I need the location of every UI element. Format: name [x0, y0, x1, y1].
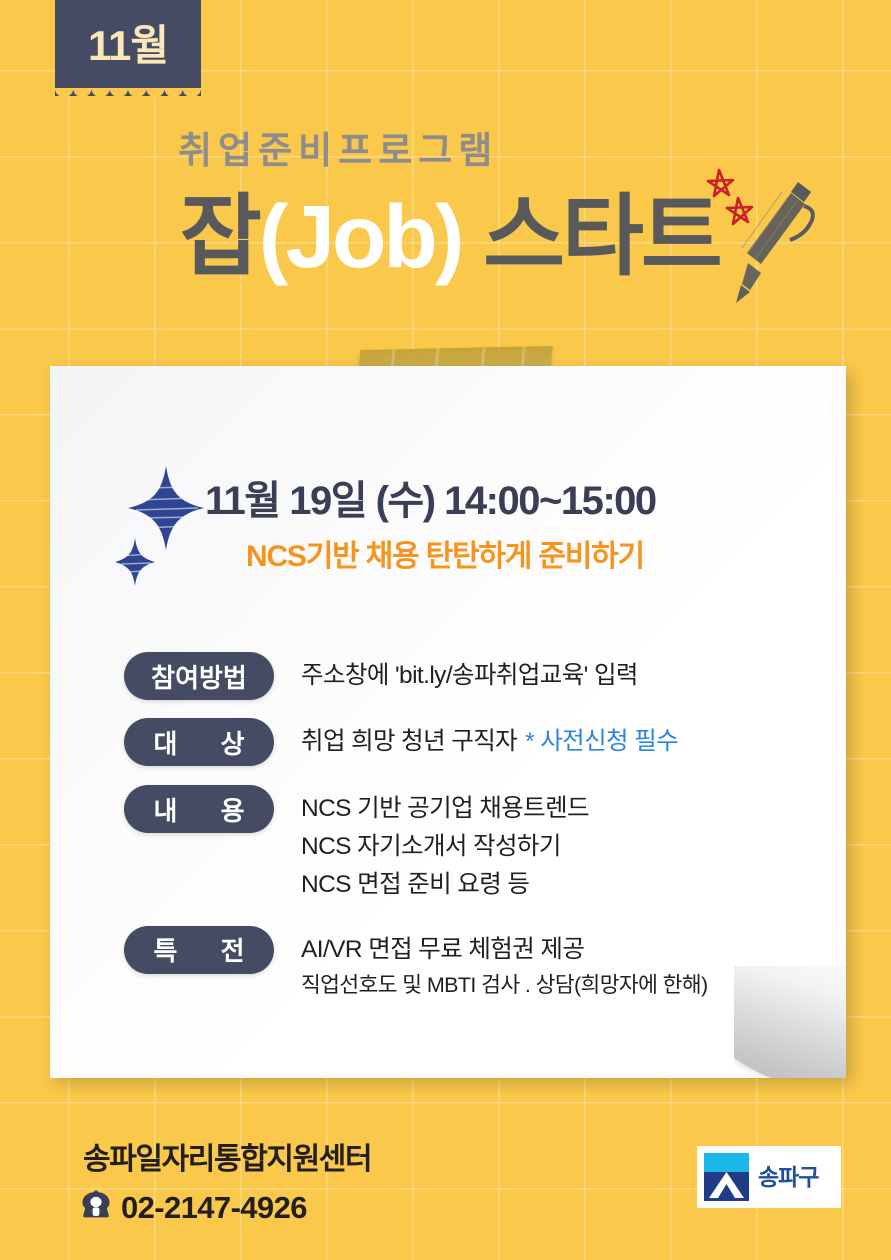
- poster-pretitle: 취업준비프로그램: [178, 132, 498, 169]
- info-row-content: 내 용 NCS 기반 공기업 채용트렌드 NCS 자기소개서 작성하기 NCS …: [124, 785, 824, 904]
- info-row-line: NCS 면접 준비 요령 등: [301, 866, 589, 904]
- info-row-line: NCS 기반 공기업 채용트렌드: [301, 790, 589, 828]
- info-row-label: 대 상: [124, 718, 274, 766]
- info-row-body: 주소창에 'bit.ly/송파취업교육' 입력: [301, 652, 638, 695]
- month-tag-scallop-edge: [55, 88, 201, 104]
- info-row-line: 직업선호도 및 MBTI 검사 . 상담(희망자에 한해): [301, 969, 708, 1002]
- info-row-participation: 참여방법 주소창에 'bit.ly/송파취업교육' 입력: [124, 652, 824, 700]
- info-row-text: 취업 희망 청년 구직자: [301, 728, 517, 755]
- songpa-mountain-logo-icon: [704, 1153, 749, 1201]
- info-rows: 참여방법 주소창에 'bit.ly/송파취업교육' 입력 대 상 취업 희망 청…: [124, 652, 824, 1020]
- info-row-body: NCS 기반 공기업 채용트렌드 NCS 자기소개서 작성하기 NCS 면접 준…: [301, 785, 589, 904]
- info-row-note: * 사전신청 필수: [525, 728, 678, 755]
- info-row-line: 취업 희망 청년 구직자* 사전신청 필수: [301, 723, 678, 761]
- info-row-target: 대 상 취업 희망 청년 구직자* 사전신청 필수: [124, 718, 824, 766]
- info-row-line: NCS 자기소개서 작성하기: [301, 828, 589, 866]
- info-row-label: 특 전: [124, 926, 274, 974]
- songpa-gu-logo-text: 송파구: [758, 1166, 818, 1189]
- info-row-body: AI/VR 면접 무료 체험권 제공 직업선호도 및 MBTI 검사 . 상담(…: [301, 926, 708, 1002]
- phone-number: 02-2147-4926: [121, 1192, 307, 1223]
- info-row-benefits: 특 전 AI/VR 면접 무료 체험권 제공 직업선호도 및 MBTI 검사 .…: [124, 926, 824, 1002]
- telephone-icon: [80, 1190, 112, 1225]
- title-part-korean-2: 스타트: [461, 186, 719, 286]
- info-row-body: 취업 희망 청년 구직자* 사전신청 필수: [301, 718, 678, 761]
- month-tag-label: 11월: [88, 25, 168, 67]
- event-date: 11월 19일 (수) 14:00~15:00: [205, 481, 656, 521]
- info-row-label: 참여방법: [124, 652, 274, 700]
- title-part-english: (Job): [259, 186, 462, 286]
- poster-title: 잡(Job) 스타트: [180, 192, 720, 281]
- info-row-line: 주소창에 'bit.ly/송파취업교육' 입력: [301, 657, 638, 695]
- poster-root: 11월 취업준비프로그램 잡(Job) 스타트: [0, 0, 891, 1260]
- title-part-korean-1: 잡: [180, 186, 259, 286]
- event-subtitle: NCS기반 채용 탄탄하게 준비하기: [246, 542, 644, 572]
- info-row-label: 내 용: [124, 785, 274, 833]
- month-tag: 11월: [55, 0, 201, 96]
- info-row-line: AI/VR 면접 무료 체험권 제공: [301, 931, 708, 969]
- songpa-gu-logo: 송파구: [697, 1146, 841, 1208]
- pen-doodle-icon: [686, 162, 826, 322]
- blue-sparkle-icon: [108, 458, 216, 586]
- footer-phone: 02-2147-4926: [80, 1190, 307, 1225]
- footer-organization: 송파일자리통합지원센터: [83, 1145, 371, 1175]
